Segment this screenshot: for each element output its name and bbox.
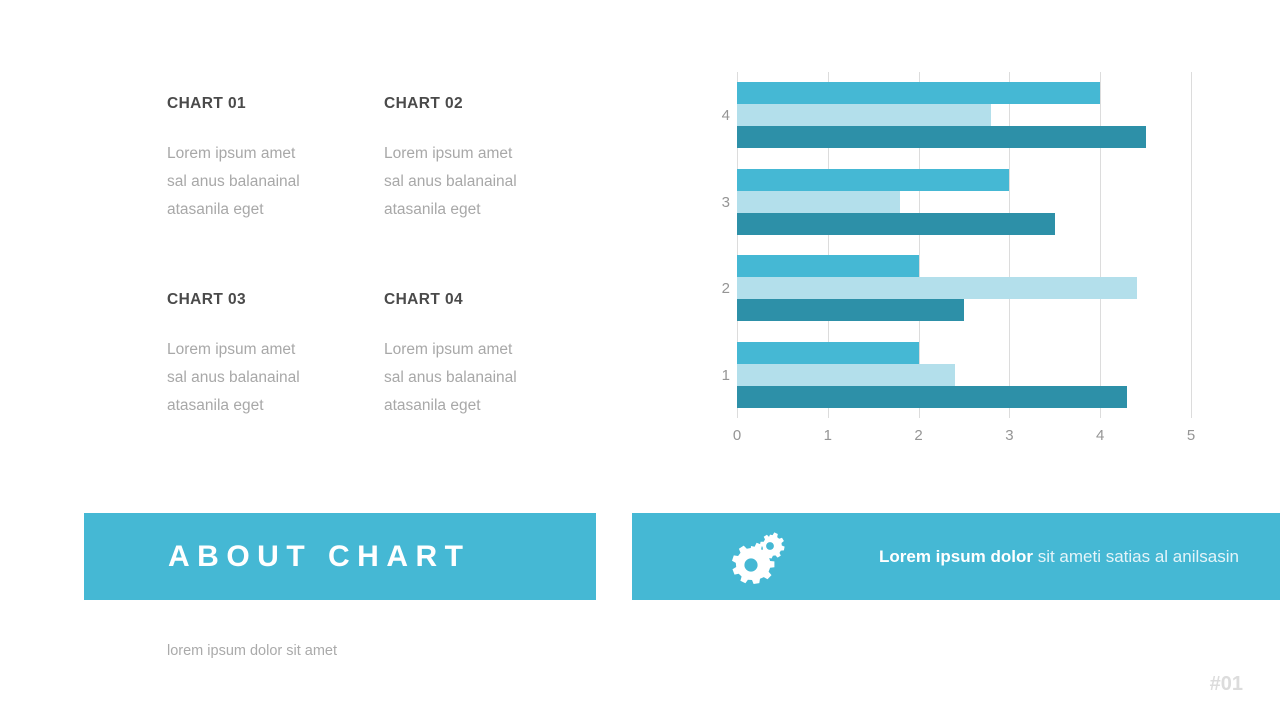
text-block-chart-01: CHART 01 Lorem ipsum ametsal anus balana…: [167, 96, 367, 225]
bar: [737, 364, 955, 386]
text-block-grid: CHART 01 Lorem ipsum ametsal anus balana…: [167, 96, 597, 436]
about-chart-banner[interactable]: ABOUT CHART: [84, 513, 596, 600]
bar-group: [737, 169, 1191, 235]
page-number: #01: [1210, 674, 1243, 694]
bar-group: [737, 255, 1191, 321]
bar: [737, 255, 919, 277]
text-block-body: Lorem ipsum ametsal anus balanainalatasa…: [167, 140, 367, 225]
x-axis-ticks: 012345: [737, 428, 1191, 452]
about-chart-title: ABOUT CHART: [168, 542, 470, 572]
x-axis-tick-label: 0: [733, 428, 741, 443]
gears-icon: [730, 528, 788, 586]
grid-line: [1191, 72, 1192, 418]
y-axis-ticks: 1234: [700, 72, 730, 418]
x-axis-tick-label: 5: [1187, 428, 1195, 443]
text-block-chart-04: CHART 04 Lorem ipsum ametsal anus balana…: [384, 292, 584, 421]
text-block-chart-03: CHART 03 Lorem ipsum ametsal anus balana…: [167, 292, 367, 421]
y-axis-tick-label: 3: [702, 195, 730, 210]
bar-group: [737, 82, 1191, 148]
bar: [737, 169, 1009, 191]
bar: [737, 213, 1055, 235]
y-axis-tick-label: 2: [702, 281, 730, 296]
footnote: lorem ipsum dolor sit amet: [167, 644, 337, 659]
text-block-body: Lorem ipsum ametsal anus balanainalatasa…: [384, 140, 584, 225]
bar-group: [737, 342, 1191, 408]
y-axis-tick-label: 1: [702, 368, 730, 383]
info-banner-text: Lorem ipsum dolor sit ameti satias al an…: [879, 548, 1239, 565]
text-block-title: CHART 02: [384, 96, 584, 112]
info-banner[interactable]: Lorem ipsum dolor sit ameti satias al an…: [632, 513, 1280, 600]
x-axis-tick-label: 4: [1096, 428, 1104, 443]
text-block-title: CHART 04: [384, 292, 584, 308]
x-axis-tick-label: 1: [824, 428, 832, 443]
text-block-body: Lorem ipsum ametsal anus balanainalatasa…: [167, 336, 367, 421]
bar: [737, 386, 1127, 408]
x-axis-tick-label: 2: [914, 428, 922, 443]
bar: [737, 191, 900, 213]
bar: [737, 277, 1137, 299]
bar: [737, 299, 964, 321]
text-block-title: CHART 03: [167, 292, 367, 308]
text-block-title: CHART 01: [167, 96, 367, 112]
info-banner-text-bold: Lorem ipsum dolor: [879, 547, 1033, 566]
plot-area: [737, 72, 1191, 418]
y-axis-tick-label: 4: [702, 108, 730, 123]
text-block-body: Lorem ipsum ametsal anus balanainalatasa…: [384, 336, 584, 421]
bar-chart: 1234 012345: [700, 60, 1220, 470]
x-axis-tick-label: 3: [1005, 428, 1013, 443]
slide-root: CHART 01 Lorem ipsum ametsal anus balana…: [0, 0, 1280, 720]
bar: [737, 126, 1146, 148]
info-banner-text-rest: sit ameti satias al anilsasin: [1033, 547, 1239, 566]
text-block-chart-02: CHART 02 Lorem ipsum ametsal anus balana…: [384, 96, 584, 225]
bar: [737, 82, 1100, 104]
bar: [737, 342, 919, 364]
bar: [737, 104, 991, 126]
